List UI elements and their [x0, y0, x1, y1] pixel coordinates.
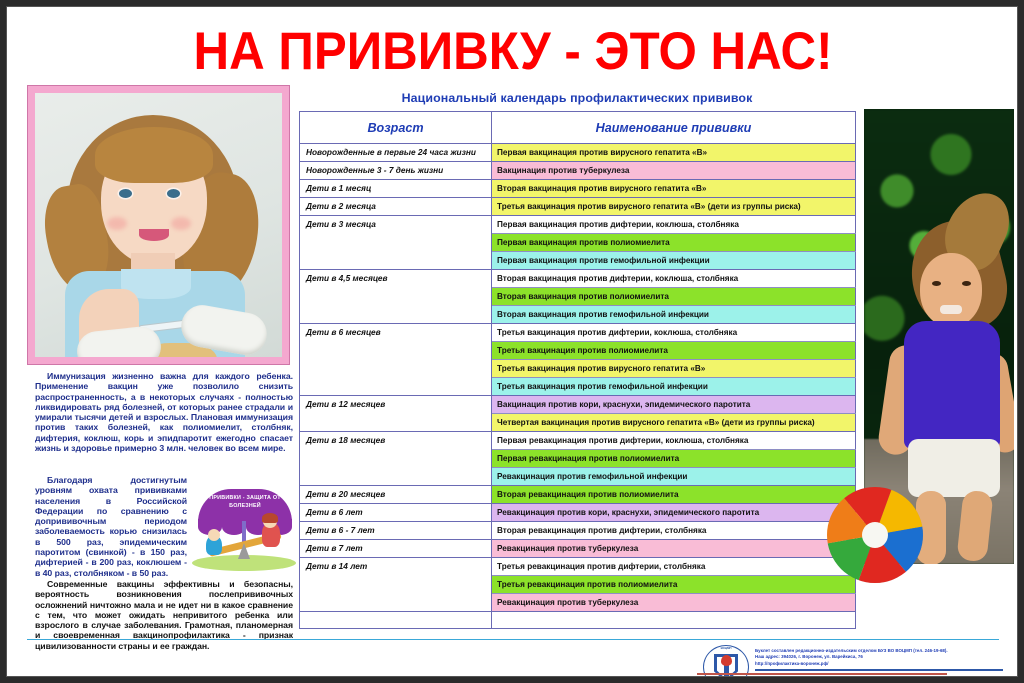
poster-canvas: НА ПРИВИВКУ - ЭТО НАС! Имму — [6, 6, 1018, 677]
child-head-left — [208, 529, 220, 541]
girl-shirt — [904, 321, 1000, 449]
table-row: Дети в 3 месяцаПервая вакцинация против … — [300, 216, 856, 234]
age-cell: Дети в 12 месяцев — [300, 396, 492, 432]
vaccine-cell: Первая вакцинация против вирусного гепат… — [492, 144, 856, 162]
footer-accent-blue — [755, 669, 1003, 671]
vaccine-cell: Первая вакцинация против гемофильной инф… — [492, 252, 856, 270]
flame-icon — [721, 655, 732, 666]
table-row: Дети в 4,5 месяцевВторая вакцинация прот… — [300, 270, 856, 288]
vaccine-cell: Третья ревакцинация против полиомиелита — [492, 576, 856, 594]
umbrella-slogan: ПРИВИВКИ - ЗАЩИТА ОТ БОЛЕЗНЕЙ — [204, 494, 286, 510]
logo-caption: ВОЦМП — [703, 646, 749, 650]
vaccine-cell: Вторая вакцинация против полиомиелита — [492, 288, 856, 306]
table-row: Дети в 7 летРевакцинация против туберкул… — [300, 540, 856, 558]
age-cell: Дети в 6 - 7 лет — [300, 522, 492, 540]
vaccine-cell: Вторая ревакцинация против полиомиелита — [492, 486, 856, 504]
photo-cheek-left — [107, 217, 127, 230]
age-cell: Дети в 3 месяца — [300, 216, 492, 270]
vaccine-cell: Вакцинация против кори, краснухи, эпидем… — [492, 396, 856, 414]
table-row — [300, 612, 856, 629]
age-cell: Дети в 18 месяцев — [300, 432, 492, 486]
table-row: Дети в 12 месяцевВакцинация против кори,… — [300, 396, 856, 414]
intro-paragraph: Иммунизация жизненно важна для каждого р… — [35, 371, 293, 453]
safety-paragraph: Современные вакцины эффективны и безопас… — [35, 579, 293, 651]
vaccine-cell: Третья ревакцинация против дифтерии, сто… — [492, 558, 856, 576]
umbrella-clipart: ПРИВИВКИ - ЗАЩИТА ОТ БОЛЕЗНЕЙ — [192, 479, 296, 575]
child-hair-right — [262, 513, 278, 523]
table-row: Дети в 18 месяцевПервая ревакцинация про… — [300, 432, 856, 450]
girl-head — [920, 253, 982, 327]
vaccine-cell: Четвертая вакцинация против вирусного ге… — [492, 414, 856, 432]
vaccine-cell: Третья вакцинация против гемофильной инф… — [492, 378, 856, 396]
table-row: Новорожденные в первые 24 часа жизниПерв… — [300, 144, 856, 162]
age-cell — [300, 612, 492, 629]
footer-credits: Буклет составлен редакционно-издательски… — [755, 648, 1003, 667]
table-row: Новорожденные 3 - 7 день жизниВакцинация… — [300, 162, 856, 180]
footer-divider — [27, 639, 999, 640]
vaccine-cell: Первая вакцинация против полиомиелита — [492, 234, 856, 252]
footer-accent-red — [697, 673, 947, 675]
photo-fringe — [95, 127, 213, 183]
girl-eye-left — [932, 281, 941, 286]
girl-mouth — [940, 305, 962, 314]
footer-line-3[interactable]: http://профилактика-воронеж.рф/ — [755, 661, 1003, 667]
vaccine-cell: Первая ревакцинация против дифтерии, кок… — [492, 432, 856, 450]
table-row: Дети в 2 месяцаТретья вакцинация против … — [300, 198, 856, 216]
vaccine-cell: Ревакцинация против гемофильной инфекции — [492, 468, 856, 486]
table-row: Дети в 14 летТретья ревакцинация против … — [300, 558, 856, 576]
vaccine-cell: Вакцинация против туберкулеза — [492, 162, 856, 180]
age-cell: Дети в 14 лет — [300, 558, 492, 612]
vaccine-cell: Вторая вакцинация против гемофильной инф… — [492, 306, 856, 324]
vaccine-cell: Вторая ревакцинация против дифтерии, сто… — [492, 522, 856, 540]
photo-eye-right — [167, 189, 180, 198]
photo-cheek-right — [171, 217, 191, 230]
vaccine-cell: Первая ревакцинация против полиомиелита — [492, 450, 856, 468]
beach-ball-icon — [827, 487, 923, 583]
age-cell: Дети в 6 лет — [300, 504, 492, 522]
vaccine-cell: Вторая вакцинация против вирусного гепат… — [492, 180, 856, 198]
vaccine-cell: Первая вакцинация против дифтерии, коклю… — [492, 216, 856, 234]
age-cell: Дети в 1 месяц — [300, 180, 492, 198]
age-cell: Дети в 2 месяца — [300, 198, 492, 216]
photo-eye-left — [119, 189, 132, 198]
vaccine-cell: Ревакцинация против туберкулеза — [492, 540, 856, 558]
photo-mouth — [139, 229, 169, 241]
page-title: НА ПРИВИВКУ - ЭТО НАС! — [42, 21, 983, 82]
table-row: Дети в 6 - 7 летВторая ревакцинация прот… — [300, 522, 856, 540]
bottom-border — [25, 676, 1001, 677]
age-cell: Новорожденные 3 - 7 день жизни — [300, 162, 492, 180]
table-row: Дети в 20 месяцевВторая ревакцинация про… — [300, 486, 856, 504]
vaccine-cell: Ревакцинация против кори, краснухи, эпид… — [492, 504, 856, 522]
vaccine-cell — [492, 612, 856, 629]
statistics-paragraph: Благодаря достигнутым уровням охвата при… — [35, 475, 187, 578]
calendar-heading: Национальный календарь профилактических … — [299, 91, 855, 105]
table-body: Новорожденные в первые 24 часа жизниПерв… — [300, 144, 856, 629]
table-row: Дети в 6 летРевакцинация против кори, кр… — [300, 504, 856, 522]
girl-eye-right — [962, 281, 971, 286]
vaccine-cell: Третья вакцинация против полиомиелита — [492, 342, 856, 360]
table-header-row: Возраст Наименование прививки — [300, 112, 856, 144]
vaccine-cell: Ревакцинация против туберкулеза — [492, 594, 856, 612]
age-cell: Дети в 7 лет — [300, 540, 492, 558]
column-header-vaccine: Наименование прививки — [492, 112, 856, 144]
vaccination-photo-frame — [27, 85, 290, 365]
vaccination-calendar-table: Возраст Наименование прививки Новорожден… — [299, 111, 856, 629]
age-cell: Новорожденные в первые 24 часа жизни — [300, 144, 492, 162]
table-row: Дети в 1 месяцВторая вакцинация против в… — [300, 180, 856, 198]
vaccine-cell: Третья вакцинация против дифтерии, коклю… — [492, 324, 856, 342]
vaccine-cell: Третья вакцинация против вирусного гепат… — [492, 198, 856, 216]
table-row: Дети в 6 месяцевТретья вакцинация против… — [300, 324, 856, 342]
age-cell: Дети в 6 месяцев — [300, 324, 492, 396]
age-cell: Дети в 20 месяцев — [300, 486, 492, 504]
vaccine-cell: Третья вакцинация против вирусного гепат… — [492, 360, 856, 378]
vaccine-cell: Вторая вакцинация против дифтерии, коклю… — [492, 270, 856, 288]
age-cell: Дети в 4,5 месяцев — [300, 270, 492, 324]
vaccination-photo — [35, 93, 282, 357]
column-header-age: Возраст — [300, 112, 492, 144]
